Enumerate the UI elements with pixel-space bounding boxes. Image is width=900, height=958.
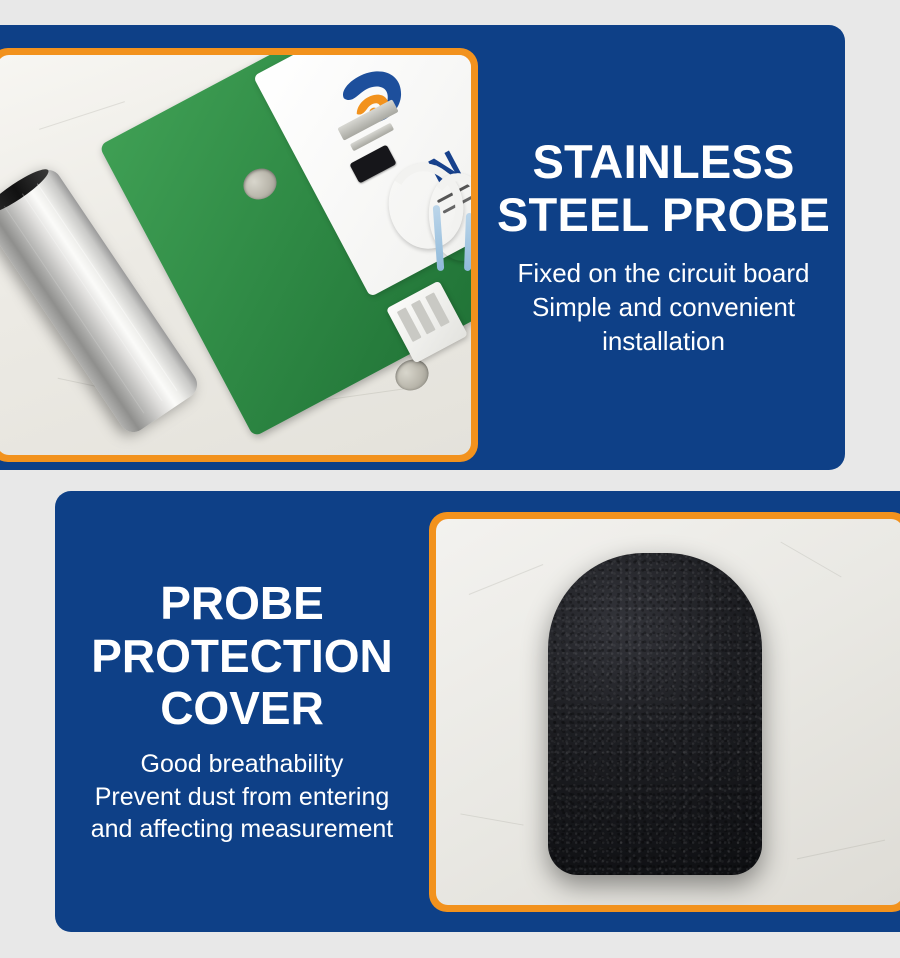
probe-protection-cover-text: PROBE PROTECTION COVER Good breathabilit…	[55, 491, 429, 932]
probe-photo-frame: N	[0, 48, 478, 462]
card2-headline-line-1: PROBE	[91, 577, 393, 629]
card2-headline-line-2: PROTECTION	[91, 630, 393, 682]
product-feature-page: N	[0, 0, 900, 958]
foam-texture	[548, 553, 762, 875]
card2-subtext-line-1: Good breathability	[91, 748, 394, 781]
stainless-steel-probe-text: STAINLESS STEEL PROBE Fixed on the circu…	[482, 25, 845, 470]
card1-subtext: Fixed on the circuit board Simple and co…	[518, 257, 810, 358]
card2-headline: PROBE PROTECTION COVER	[91, 577, 393, 734]
card2-subtext: Good breathability Prevent dust from ent…	[91, 748, 394, 846]
surface-scratch	[460, 813, 523, 825]
card2-subtext-line-2: Prevent dust from entering	[91, 781, 394, 814]
card2-subtext-line-3: and affecting measurement	[91, 813, 394, 846]
feature-card-probe-protection-cover: PROBE PROTECTION COVER Good breathabilit…	[55, 491, 900, 932]
card1-subtext-line-3: installation	[518, 325, 810, 359]
card1-headline-line-2: STEEL PROBE	[497, 189, 830, 242]
foam-cover-photo-frame	[429, 512, 900, 912]
feature-card-stainless-steel-probe: N	[0, 25, 845, 470]
card2-headline-line-3: COVER	[91, 682, 393, 734]
foam-protection-cover	[548, 553, 762, 875]
surface-scratch	[39, 101, 125, 130]
probe-photo: N	[0, 55, 471, 455]
surface-scratch	[780, 542, 841, 578]
card1-headline-line-1: STAINLESS	[497, 136, 830, 189]
surface-scratch	[797, 840, 885, 860]
surface-scratch	[469, 564, 544, 595]
card1-headline: STAINLESS STEEL PROBE	[497, 136, 830, 241]
card1-subtext-line-2: Simple and convenient	[518, 291, 810, 325]
blue-wire-stripe	[464, 213, 471, 271]
foam-cover-photo	[436, 519, 900, 905]
card1-subtext-line-1: Fixed on the circuit board	[518, 257, 810, 291]
